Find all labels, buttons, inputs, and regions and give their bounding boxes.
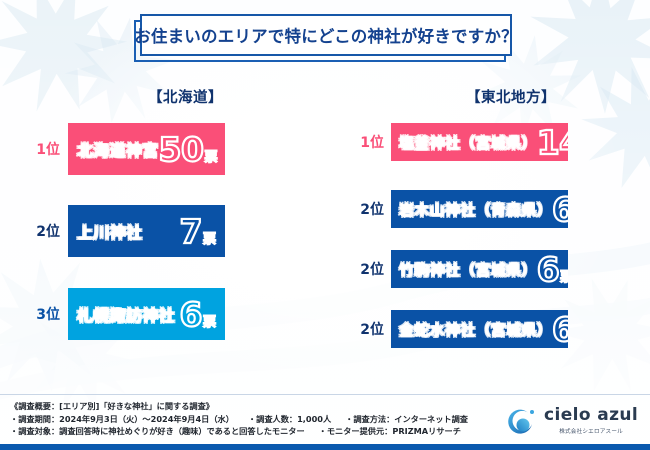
vote-number: 6 <box>180 298 202 331</box>
region-header-tohoku: 【東北地方】 <box>466 86 556 107</box>
vote-count: 6票 <box>552 313 568 346</box>
footer-divider <box>0 394 650 395</box>
rank-bar: 札幌諏訪神社 6票 <box>68 288 225 340</box>
footer-accent-bar <box>0 444 650 450</box>
vote-number: 50 <box>159 133 204 166</box>
rank-row[interactable]: 2位 金蛇水神社（宮城県） 6票 <box>350 310 568 348</box>
cielo-azul-mark-icon <box>506 406 538 438</box>
vote-count: 14票 <box>537 126 568 159</box>
rank-row[interactable]: 2位 竹駒神社（宮城県） 6票 <box>350 250 568 288</box>
vote-number: 6 <box>537 253 559 286</box>
vote-count: 50票 <box>159 133 218 166</box>
vote-count: 6票 <box>180 298 216 331</box>
rank-bar: 岩木山神社（青森県） 6票 <box>391 190 568 228</box>
vote-number: 7 <box>180 215 202 248</box>
survey-line-period: ・調査期間：2024年9月3日（火）〜2024年9月4日（水）・調査人数：1,0… <box>10 413 480 426</box>
vote-unit: 票 <box>560 266 568 285</box>
vote-unit: 票 <box>203 228 216 247</box>
rank-label: 2位 <box>350 259 384 279</box>
vote-number: 6 <box>552 193 568 226</box>
rank-label: 2位 <box>350 199 384 219</box>
rank-bar: 北海道神宮 50票 <box>68 123 225 175</box>
rank-bar: 金蛇水神社（宮城県） 6票 <box>391 310 568 348</box>
shrine-name: 塩釜神社（宮城県） <box>399 132 537 153</box>
vote-count: 6票 <box>537 253 568 286</box>
rank-bar: 上川神社 7票 <box>68 205 225 257</box>
rank-label: 2位 <box>24 221 60 241</box>
rank-label: 3位 <box>24 304 60 324</box>
page-title: お住まいのエリアで特にどこの神社が好きですか？ <box>134 23 518 47</box>
vote-count: 7票 <box>180 215 216 248</box>
shrine-name: 竹駒神社（宮城県） <box>399 259 537 280</box>
logo-text-block: cielo azul 株式会社シエロアスール <box>544 407 638 435</box>
region-header-hokkaido: 【北海道】 <box>148 86 223 107</box>
company-logo[interactable]: cielo azul 株式会社シエロアスール <box>506 404 642 440</box>
vote-unit: 票 <box>204 146 217 165</box>
shrine-name: 札幌諏訪神社 <box>77 302 175 326</box>
shrine-name: 岩木山神社（青森県） <box>399 199 552 220</box>
vote-number: 14 <box>537 126 568 159</box>
rank-label: 1位 <box>24 139 60 159</box>
logo-company: 株式会社シエロアスール <box>544 427 638 435</box>
vote-number: 6 <box>552 313 568 346</box>
rank-label: 2位 <box>350 319 384 339</box>
rank-label: 1位 <box>350 132 384 152</box>
shrine-name: 金蛇水神社（宮城県） <box>399 319 552 340</box>
rank-row[interactable]: 3位 札幌諏訪神社 6票 <box>24 288 225 340</box>
survey-target: ・調査対象：調査回答時に神社めぐりが好き（趣味）であると回答したモニター <box>10 425 305 438</box>
rank-row[interactable]: 2位 上川神社 7票 <box>24 205 225 257</box>
survey-period: ・調査期間：2024年9月3日（火）〜2024年9月4日（水） <box>10 413 234 426</box>
survey-summary-line: 《調査概要：[エリア別]「好きな神社」に関する調査》 <box>10 400 480 413</box>
logo-name: cielo azul <box>544 407 638 424</box>
vote-count: 6票 <box>552 193 568 226</box>
title-box: お住まいのエリアで特にどこの神社が好きですか？ <box>140 14 512 56</box>
rank-row[interactable]: 1位 塩釜神社（宮城県） 14票 <box>350 123 568 161</box>
survey-people: ・調査人数：1,000人 <box>248 413 331 426</box>
infographic-canvas: お住まいのエリアで特にどこの神社が好きですか？ 【北海道】 【東北地方】 1位 … <box>0 0 650 450</box>
survey-overview: 《調査概要：[エリア別]「好きな神社」に関する調査》 ・調査期間：2024年9月… <box>10 400 480 438</box>
rank-bar: 竹駒神社（宮城県） 6票 <box>391 250 568 288</box>
title-banner: お住まいのエリアで特にどこの神社が好きですか？ <box>140 14 512 58</box>
rank-bar: 塩釜神社（宮城県） 14票 <box>391 123 568 161</box>
rank-row[interactable]: 1位 北海道神宮 50票 <box>24 123 225 175</box>
survey-provider: ・モニター提供元：PRIZMAリサーチ <box>319 425 461 438</box>
survey-method: ・調査方法：インターネット調査 <box>345 413 468 426</box>
shrine-name: 北海道神宮 <box>77 137 159 161</box>
survey-line-target: ・調査対象：調査回答時に神社めぐりが好き（趣味）であると回答したモニター・モニタ… <box>10 425 480 438</box>
rank-row[interactable]: 2位 岩木山神社（青森県） 6票 <box>350 190 568 228</box>
shrine-name: 上川神社 <box>77 219 142 243</box>
vote-unit: 票 <box>203 311 216 330</box>
